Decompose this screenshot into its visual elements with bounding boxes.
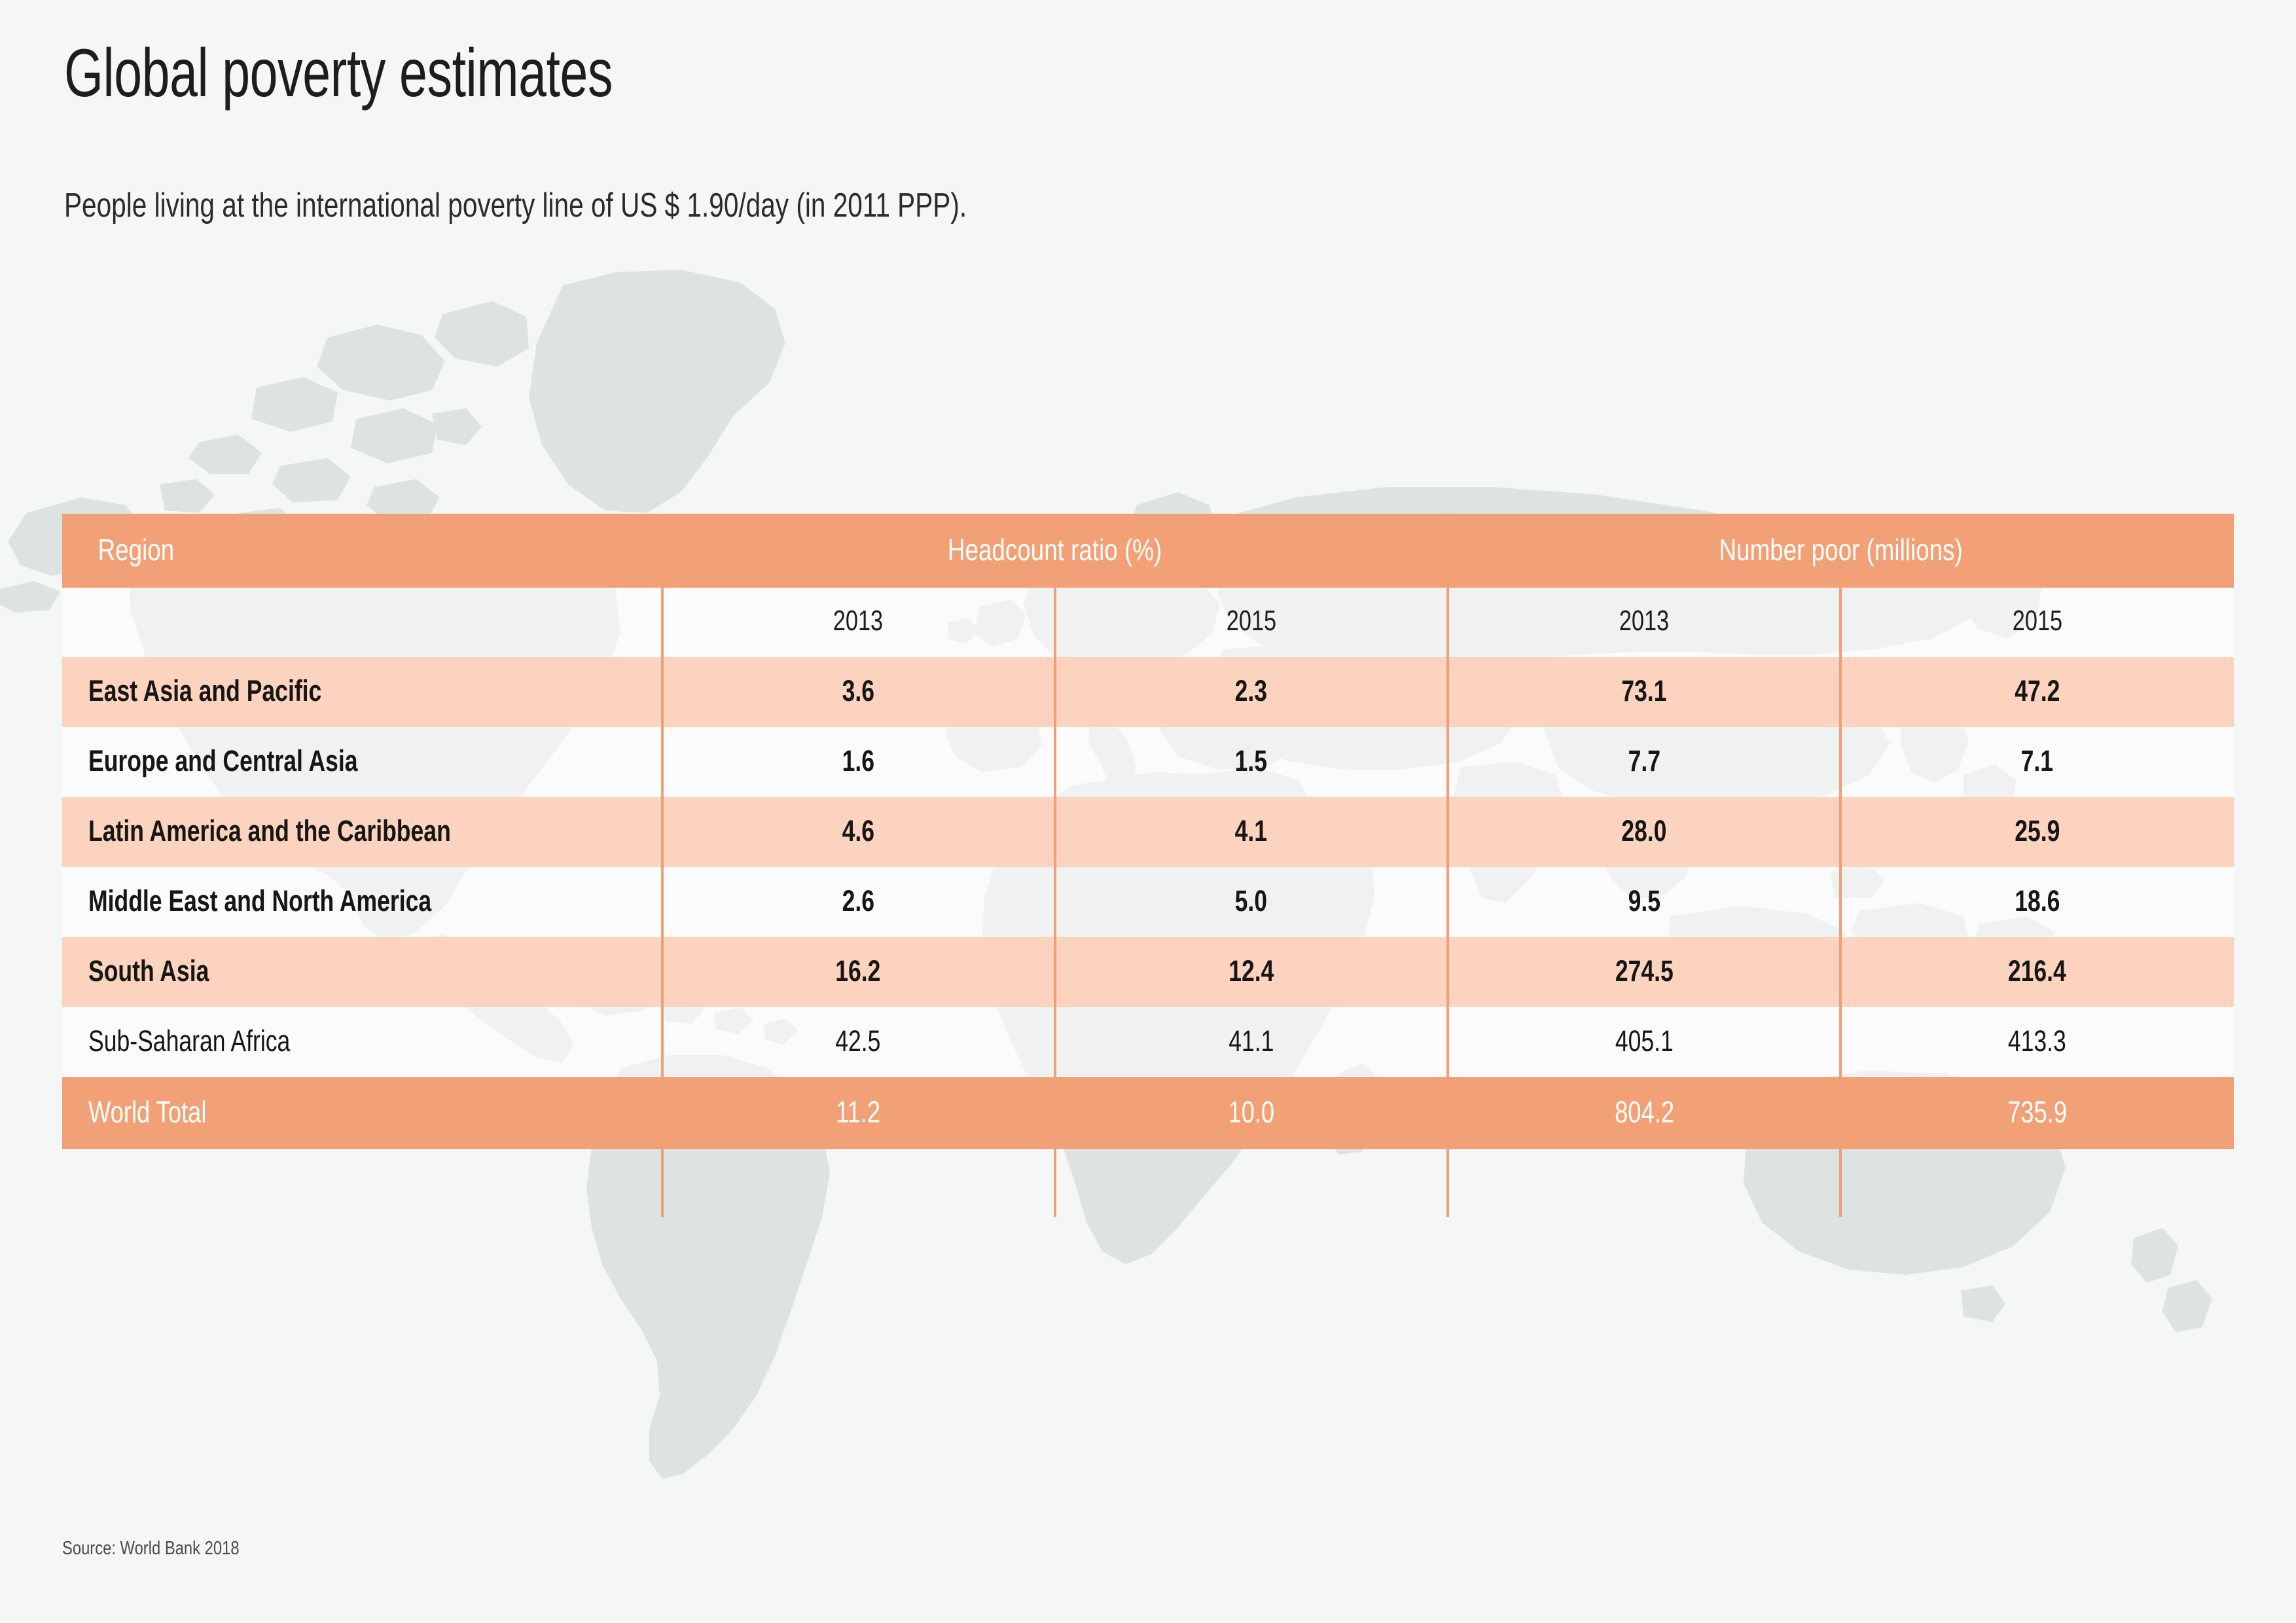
- page-subtitle: People living at the international pover…: [64, 186, 967, 225]
- cell-poor-2013-value: 73.1: [1622, 674, 1667, 708]
- cell-hcr-2013: 1.6: [662, 727, 1055, 797]
- cell-total-region: World Total: [62, 1077, 662, 1149]
- cell-poor-2015-value: 413.3: [2008, 1024, 2066, 1058]
- group-header-row: Region Headcount ratio (%) Number poor (…: [62, 514, 2234, 588]
- cell-hcr-2013-value: 4.6: [842, 814, 874, 848]
- cell-poor-2013-value: 274.5: [1615, 954, 1674, 988]
- cell-total-poor-2015-value: 735.9: [2007, 1094, 2067, 1130]
- table-row: Latin America and the Caribbean 4.6 4.1 …: [62, 797, 2234, 867]
- cell-poor-2015-value: 7.1: [2021, 744, 2053, 778]
- year-header-blank: [62, 588, 662, 657]
- cell-region: Sub-Saharan Africa: [62, 1007, 662, 1077]
- cell-poor-2015: 413.3: [1840, 1007, 2234, 1077]
- cell-poor-2015: 216.4: [1840, 937, 2234, 1007]
- year-header-poor-2013: 2013: [1448, 588, 1841, 657]
- cell-hcr-2015-value: 12.4: [1229, 954, 1274, 988]
- cell-poor-2013-value: 9.5: [1628, 884, 1660, 918]
- cell-poor-2015: 7.1: [1840, 727, 2234, 797]
- cell-poor-2013: 9.5: [1448, 867, 1841, 937]
- table-row: East Asia and Pacific 3.6 2.3 73.1 47.2: [62, 657, 2234, 727]
- cell-total-poor-2015: 735.9: [1840, 1077, 2234, 1149]
- table-head: Region Headcount ratio (%) Number poor (…: [62, 514, 2234, 657]
- table-row: Sub-Saharan Africa 42.5 41.1 405.1 413.3: [62, 1007, 2234, 1077]
- cell-poor-2015: 47.2: [1840, 657, 2234, 727]
- table-row: South Asia 16.2 12.4 274.5 216.4: [62, 937, 2234, 1007]
- year-header-hcr-2015: 2015: [1054, 588, 1448, 657]
- cell-total-hcr-2015-value: 10.0: [1228, 1094, 1274, 1130]
- source-note: Source: World Bank 2018: [62, 1538, 240, 1560]
- column-group-headcount-ratio: Headcount ratio (%): [662, 514, 1448, 588]
- column-group-number-poor: Number poor (millions): [1448, 514, 2234, 588]
- cell-region-label: Sub-Saharan Africa: [88, 1024, 290, 1058]
- cell-region: Latin America and the Caribbean: [62, 797, 662, 867]
- cell-hcr-2013-value: 2.6: [842, 884, 874, 918]
- year-header-poor-2015-label: 2015: [2013, 605, 2062, 637]
- table-row: Europe and Central Asia 1.6 1.5 7.7 7.1: [62, 727, 2234, 797]
- year-header-hcr-2015-label: 2015: [1226, 605, 1276, 637]
- cell-region: Middle East and North America: [62, 867, 662, 937]
- cell-poor-2013-value: 405.1: [1615, 1024, 1674, 1058]
- cell-poor-2013: 73.1: [1448, 657, 1841, 727]
- cell-hcr-2013-value: 16.2: [835, 954, 880, 988]
- year-header-poor-2013-label: 2013: [1619, 605, 1669, 637]
- cell-hcr-2013: 3.6: [662, 657, 1055, 727]
- table-row: Middle East and North America 2.6 5.0 9.…: [62, 867, 2234, 937]
- cell-total-poor-2013-value: 804.2: [1615, 1094, 1674, 1130]
- column-header-region-label: Region: [98, 532, 175, 567]
- cell-region-label: Europe and Central Asia: [88, 744, 358, 778]
- cell-total-hcr-2013-value: 11.2: [836, 1094, 880, 1130]
- column-header-region: Region: [62, 514, 662, 588]
- cell-poor-2015-value: 216.4: [2008, 954, 2066, 988]
- cell-poor-2013: 274.5: [1448, 937, 1841, 1007]
- cell-total-hcr-2013: 11.2: [662, 1077, 1055, 1149]
- cell-hcr-2013-value: 1.6: [842, 744, 874, 778]
- year-header-row: 2013 2015 2013 2015: [62, 588, 2234, 657]
- cell-hcr-2015-value: 5.0: [1235, 884, 1267, 918]
- column-group-headcount-ratio-label: Headcount ratio (%): [948, 532, 1162, 567]
- cell-hcr-2013: 42.5: [662, 1007, 1055, 1077]
- table-body: East Asia and Pacific 3.6 2.3 73.1 47.2: [62, 657, 2234, 1149]
- cell-total-hcr-2015: 10.0: [1054, 1077, 1448, 1149]
- cell-region: Europe and Central Asia: [62, 727, 662, 797]
- cell-hcr-2013: 2.6: [662, 867, 1055, 937]
- cell-hcr-2013: 16.2: [662, 937, 1055, 1007]
- year-header-poor-2015: 2015: [1840, 588, 2234, 657]
- cell-region: South Asia: [62, 937, 662, 1007]
- cell-poor-2015-value: 18.6: [2015, 884, 2060, 918]
- cell-hcr-2015: 41.1: [1054, 1007, 1448, 1077]
- cell-hcr-2015: 12.4: [1054, 937, 1448, 1007]
- cell-hcr-2013-value: 3.6: [842, 674, 874, 708]
- cell-poor-2013: 7.7: [1448, 727, 1841, 797]
- cell-hcr-2013: 4.6: [662, 797, 1055, 867]
- cell-hcr-2015-value: 41.1: [1229, 1024, 1274, 1058]
- cell-hcr-2015-value: 1.5: [1235, 744, 1267, 778]
- cell-total-poor-2013: 804.2: [1448, 1077, 1841, 1149]
- column-group-number-poor-label: Number poor (millions): [1719, 532, 1962, 567]
- cell-region: East Asia and Pacific: [62, 657, 662, 727]
- cell-region-label: Latin America and the Caribbean: [88, 814, 451, 848]
- cell-region-label: Middle East and North America: [88, 884, 431, 918]
- cell-poor-2015-value: 25.9: [2015, 814, 2060, 848]
- infographic-page: Global poverty estimates People living a…: [0, 0, 2296, 1623]
- poverty-table: Region Headcount ratio (%) Number poor (…: [62, 514, 2234, 1149]
- year-header-hcr-2013-label: 2013: [833, 605, 883, 637]
- cell-hcr-2013-value: 42.5: [835, 1024, 880, 1058]
- year-header-hcr-2013: 2013: [662, 588, 1055, 657]
- cell-hcr-2015: 1.5: [1054, 727, 1448, 797]
- poverty-table-container: Region Headcount ratio (%) Number poor (…: [62, 514, 2234, 1149]
- cell-total-region-label: World Total: [88, 1094, 206, 1130]
- cell-region-label: East Asia and Pacific: [88, 674, 321, 708]
- cell-poor-2013: 405.1: [1448, 1007, 1841, 1077]
- cell-poor-2015: 18.6: [1840, 867, 2234, 937]
- cell-poor-2013-value: 7.7: [1628, 744, 1660, 778]
- page-title: Global poverty estimates: [64, 38, 613, 109]
- cell-hcr-2015: 4.1: [1054, 797, 1448, 867]
- cell-hcr-2015-value: 4.1: [1235, 814, 1267, 848]
- cell-poor-2013-value: 28.0: [1622, 814, 1667, 848]
- cell-region-label: South Asia: [88, 954, 209, 988]
- cell-hcr-2015: 5.0: [1054, 867, 1448, 937]
- cell-poor-2015-value: 47.2: [2015, 674, 2060, 708]
- cell-poor-2015: 25.9: [1840, 797, 2234, 867]
- cell-hcr-2015: 2.3: [1054, 657, 1448, 727]
- cell-poor-2013: 28.0: [1448, 797, 1841, 867]
- cell-hcr-2015-value: 2.3: [1235, 674, 1267, 708]
- table-row-world-total: World Total 11.2 10.0 804.2 735.9: [62, 1077, 2234, 1149]
